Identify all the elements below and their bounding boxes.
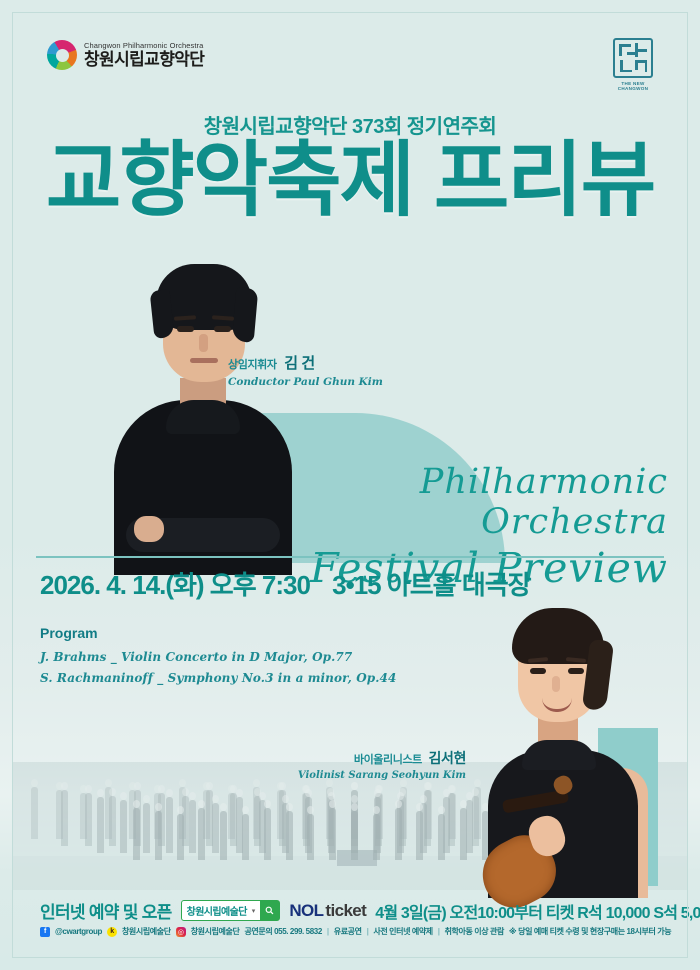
schedule-line: 2026. 4. 14.(화) 오후 7:30 3•15 아트홀 대극장: [40, 565, 531, 602]
city-logo-caption: THE NEW CHANGWON: [611, 81, 655, 91]
orchestra-member-silhouette: [120, 800, 127, 853]
orchestra-member-silhouette: [189, 800, 196, 853]
facebook-handle: @cwartgroup: [55, 927, 102, 936]
search-icon[interactable]: [260, 901, 279, 920]
orchestra-member-silhouette: [438, 814, 445, 860]
divider-rule: [36, 556, 664, 558]
program-item: S. Rachmaninoff _ Symphony No.3 in a min…: [40, 668, 396, 689]
conductor-credit: 상임지휘자 김 건 Conductor Paul Ghun Kim: [228, 352, 383, 388]
orchestra-member-silhouette: [31, 787, 38, 839]
orchestra-member-silhouette: [286, 811, 293, 860]
orchestra-member-silhouette: [220, 811, 227, 860]
conductor-role: 상임지휘자: [228, 359, 277, 371]
orchestra-member-silhouette: [198, 808, 205, 860]
footer-bar: f @cwartgroup k 창원시립예술단 ◎ 창원시립예술단 공연문의 0…: [40, 926, 670, 937]
violinist-credit: 바이올리니스트 김서현 Violinist Sarang Seohyun Kim: [286, 748, 466, 781]
violinist-name: 김서현: [429, 750, 466, 766]
footer-separator: |: [438, 927, 440, 936]
orchestra-member-silhouette: [373, 814, 380, 860]
search-box[interactable]: 창원시립예술단 ▾: [181, 900, 281, 921]
program-heading: Program: [40, 625, 396, 641]
instagram-handle: 창원시립예술단: [191, 926, 240, 937]
orchestra-member-silhouette: [143, 803, 150, 853]
violinist-role: 바이올리니스트: [354, 754, 422, 766]
booking-open-info: 4월 3일(금) 오전10:00부터 티켓 R석 10,000 S석 5,000: [375, 899, 700, 923]
orchestra-member-silhouette: [109, 796, 116, 846]
concert-date: 2026. 4. 14.(화) 오후 7:30: [40, 570, 310, 600]
nol-brand: NOL: [289, 901, 323, 921]
orchestra-member-silhouette: [177, 814, 184, 860]
chevron-down-icon[interactable]: ▾: [252, 907, 261, 915]
orchestra-member-silhouette: [61, 790, 68, 846]
orchestra-logo-english: Changwon Philharmonic Orchestra: [84, 42, 204, 50]
reservation-notice: 사전 인터넷 예약제: [373, 926, 432, 937]
orchestra-member-silhouette: [416, 811, 423, 860]
kakao-icon[interactable]: k: [107, 927, 117, 937]
paid-notice: 유료공연: [334, 926, 362, 937]
search-input[interactable]: 창원시립예술단: [182, 903, 252, 918]
conductor-name: 김 건: [284, 355, 315, 372]
pickup-notice: ※ 당일 예매 티켓 수령 및 현장구매는 18시부터 가능: [509, 926, 671, 937]
nol-ticket-logo[interactable]: NOL ticket: [289, 901, 366, 921]
violinist-credit-english: Violinist Sarang Seohyun Kim: [286, 770, 466, 781]
orchestra-member-silhouette: [155, 811, 162, 860]
program-section: Program J. Brahms _ Violin Concerto in D…: [40, 625, 396, 689]
script-title-line1: Philharmonic Orchestra: [268, 462, 668, 542]
orchestra-member-silhouette: [329, 808, 336, 860]
inquiry-phone: 공연문의 055. 299. 5832: [244, 926, 321, 937]
orchestra-logo: Changwon Philharmonic Orchestra 창원시립교향악단: [47, 40, 204, 70]
instagram-icon[interactable]: ◎: [176, 927, 186, 937]
concert-poster: Changwon Philharmonic Orchestra 창원시립교향악단…: [0, 0, 700, 970]
orchestra-member-silhouette: [307, 814, 314, 860]
orchestra-logo-korean: 창원시립교향악단: [84, 51, 204, 69]
age-notice: 취학아동 이상 관람: [445, 926, 504, 937]
orchestra-member-silhouette: [133, 808, 140, 860]
booking-bar: 인터넷 예약 및 오픈 창원시립예술단 ▾ NOL ticket 4월 3일(금…: [40, 898, 666, 923]
footer-separator: |: [367, 927, 369, 936]
orchestra-member-silhouette: [351, 811, 358, 860]
orchestra-member-silhouette: [264, 808, 271, 860]
booking-label: 인터넷 예약 및 오픈: [40, 898, 172, 923]
changwon-city-mark-icon: [613, 38, 653, 78]
orchestra-member-silhouette: [97, 797, 104, 853]
concert-venue: 3•15 아트홀 대극장: [332, 570, 530, 600]
orchestra-member-silhouette: [85, 793, 92, 846]
city-logo: THE NEW CHANGWON: [611, 38, 655, 91]
orchestra-member-silhouette: [395, 808, 402, 860]
concert-main-title: 교향악축제 프리뷰: [0, 140, 700, 222]
orchestra-member-silhouette: [242, 814, 249, 860]
circular-ring-logo-icon: [47, 40, 77, 70]
orchestra-member-silhouette: [166, 797, 173, 853]
kakao-handle: 창원시립예술단: [122, 926, 171, 937]
footer-separator: |: [327, 927, 329, 936]
ticket-word: ticket: [325, 901, 366, 921]
facebook-icon[interactable]: f: [40, 927, 50, 937]
program-item: J. Brahms _ Violin Concerto in D Major, …: [40, 647, 396, 668]
violinist-photo: [466, 600, 681, 892]
orchestra-member-silhouette: [212, 803, 219, 853]
conductor-credit-english: Conductor Paul Ghun Kim: [228, 376, 383, 388]
